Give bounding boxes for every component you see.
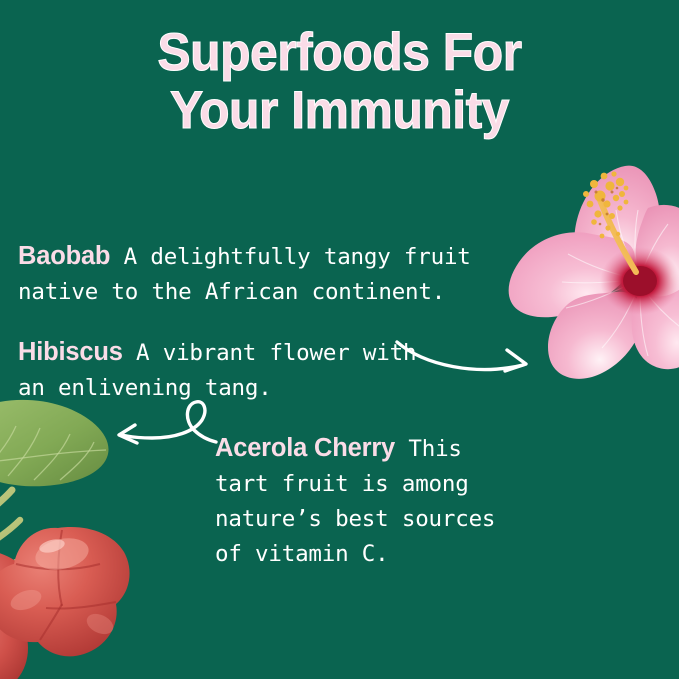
ingredient-acerola: Acerola Cherry This tart fruit is among … bbox=[215, 431, 545, 572]
ingredient-baobab-name: Baobab bbox=[18, 242, 110, 270]
ingredient-acerola-name: Acerola Cherry bbox=[215, 434, 395, 462]
ingredient-hibiscus-name: Hibiscus bbox=[18, 338, 123, 366]
title-line-1: Superfoods For bbox=[20, 24, 658, 82]
acerola-cherries-image bbox=[0, 392, 166, 679]
page-title: Superfoods For Your Immunity bbox=[0, 24, 679, 140]
superfoods-poster: Superfoods For Your Immunity Baobab A de… bbox=[0, 0, 679, 679]
ingredient-baobab: Baobab A delightfully tangy fruit native… bbox=[18, 239, 538, 310]
title-line-2: Your Immunity bbox=[20, 82, 658, 140]
ingredient-hibiscus: Hibiscus A vibrant flower with an enlive… bbox=[18, 335, 498, 406]
